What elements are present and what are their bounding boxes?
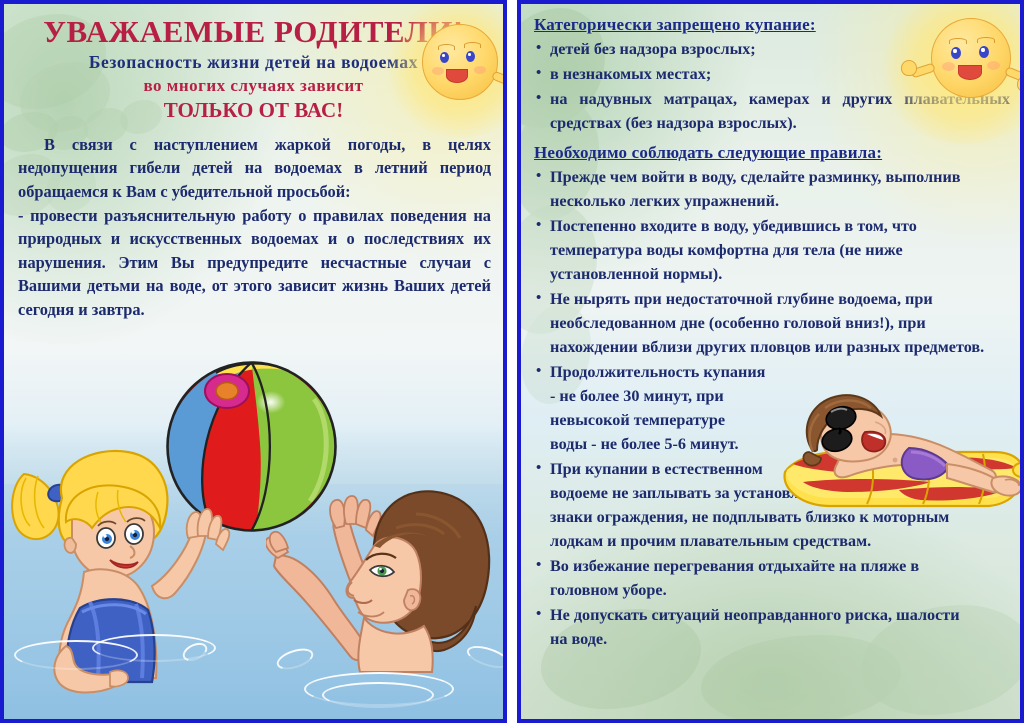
list-item: Прежде чем войти в воду, сделайте размин… [534, 166, 1010, 214]
sun-eye-left [951, 47, 961, 59]
heading-rules: Необходимо соблюдать следующие правила: [534, 142, 1010, 163]
list-item: Во избежание перегревания отдыхайте на п… [534, 555, 1010, 603]
sun-brow-right [977, 37, 995, 43]
sun-hand-right [1017, 76, 1024, 92]
sun-eye-right [979, 46, 989, 58]
girl-figure [6, 446, 256, 723]
list-item: Не нырять при недостаточной глубине водо… [534, 288, 1010, 360]
sun-hand-right [504, 78, 507, 93]
sun-brow-right [464, 42, 481, 48]
sun-mouth [446, 69, 468, 83]
list-item: Постепенно входите в воду, убедившись в … [534, 215, 1010, 287]
water-ripple [322, 682, 434, 708]
body-paragraph-2: - провести разъяснительную работу о прав… [18, 204, 491, 321]
sun-icon [901, 8, 1024, 128]
sun-eye-left [440, 52, 449, 63]
sun-hand-left [901, 60, 917, 76]
sun-mouth [958, 65, 982, 80]
list-item: Не допускать ситуаций неоправданного рис… [534, 604, 1010, 652]
sun-icon [408, 12, 507, 124]
sunbather-on-mattress-figure [779, 386, 1024, 522]
body-paragraph-1: В связи с наступлением жаркой погоды, в … [18, 133, 491, 203]
right-page: Категорически запрещено купание: детей б… [517, 0, 1024, 723]
sun-eye-right [466, 51, 475, 62]
left-body-text: В связи с наступлением жаркой погоды, в … [4, 127, 503, 322]
sun-brow-left [949, 38, 967, 44]
sun-brow-left [438, 44, 455, 50]
poster-root: УВАЖАЕМЫЕ РОДИТЕЛИ! Безопасность жизни д… [0, 0, 1024, 723]
left-page: УВАЖАЕМЫЕ РОДИТЕЛИ! Безопасность жизни д… [0, 0, 507, 723]
